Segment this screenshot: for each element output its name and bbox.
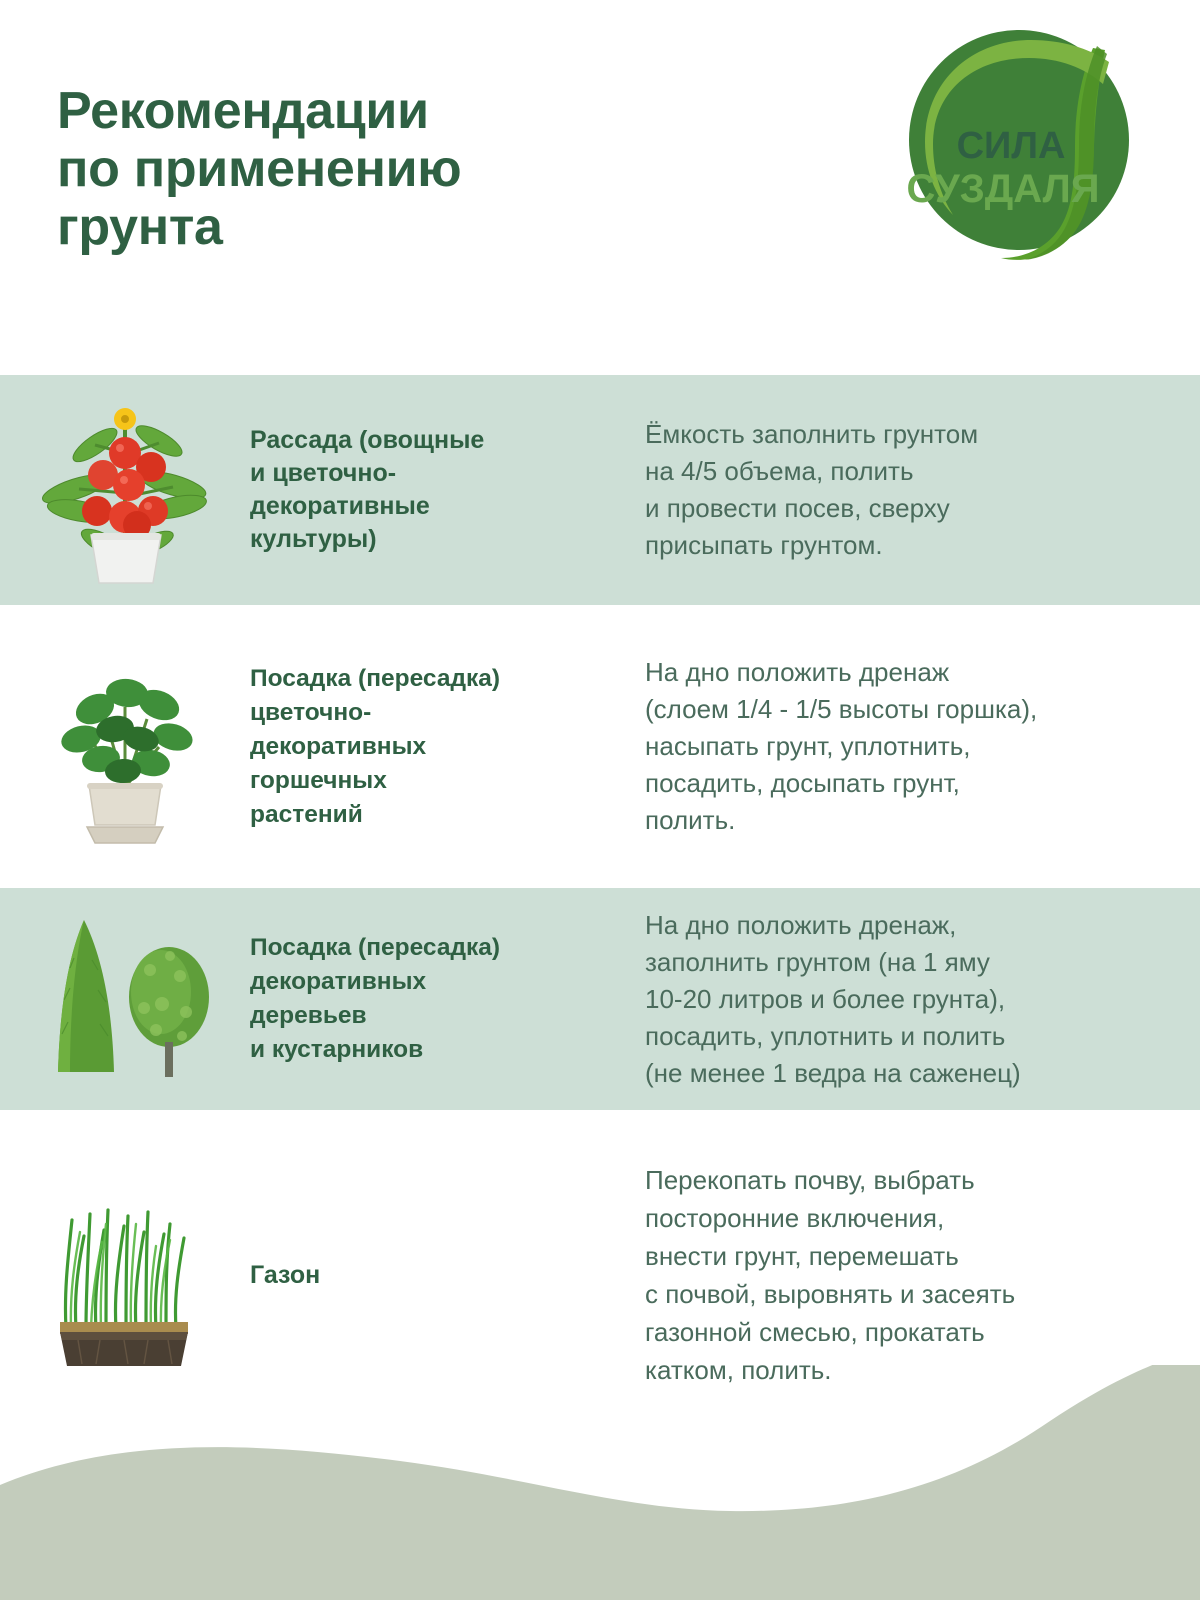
row-title: Рассада (овощные и цветочно- декоративны…	[250, 424, 645, 556]
lawn-turf-block-icon	[38, 1180, 213, 1370]
row-title: Посадка (пересадка) цветочно- декоративн…	[250, 662, 645, 832]
logo-text-line1: СИЛА	[957, 125, 1066, 167]
table-row: Посадка (пересадка) декоративных деревье…	[0, 888, 1200, 1110]
logo-text-line2: СУЗДАЛЯ	[907, 167, 1100, 211]
wave-shape	[0, 1365, 1200, 1600]
conifer-and-topiary-trees-icon	[30, 912, 220, 1087]
row-image-cell	[0, 888, 250, 1110]
bottom-wave-decoration	[0, 1365, 1200, 1600]
sila-suzdalya-logo: СИЛА СУЗДАЛЯ	[893, 18, 1146, 276]
row-image-cell	[0, 605, 250, 888]
row-title: Посадка (пересадка) декоративных деревье…	[250, 931, 645, 1067]
row-description: На дно положить дренаж (слоем 1/4 - 1/5 …	[645, 654, 1200, 839]
row-description: Ёмкость заполнить грунтом на 4/5 объема,…	[645, 416, 1200, 564]
table-row: Рассада (овощные и цветочно- декоративны…	[0, 375, 1200, 605]
infographic-page: Рекомендации по применению грунта СИЛА С…	[0, 0, 1200, 1600]
table-row: Посадка (пересадка) цветочно- декоративн…	[0, 605, 1200, 888]
potted-houseplant-icon	[35, 647, 215, 847]
row-title: Газон	[250, 1259, 645, 1292]
row-image-cell	[0, 375, 250, 605]
page-title: Рекомендации по применению грунта	[57, 82, 697, 256]
row-description: На дно положить дренаж, заполнить грунто…	[645, 907, 1200, 1092]
tomato-seedling-in-pot-icon	[33, 393, 218, 588]
row-description: Перекопать почву, выбрать посторонние вк…	[645, 1161, 1200, 1389]
header: Рекомендации по применению грунта СИЛА С…	[0, 0, 1200, 375]
